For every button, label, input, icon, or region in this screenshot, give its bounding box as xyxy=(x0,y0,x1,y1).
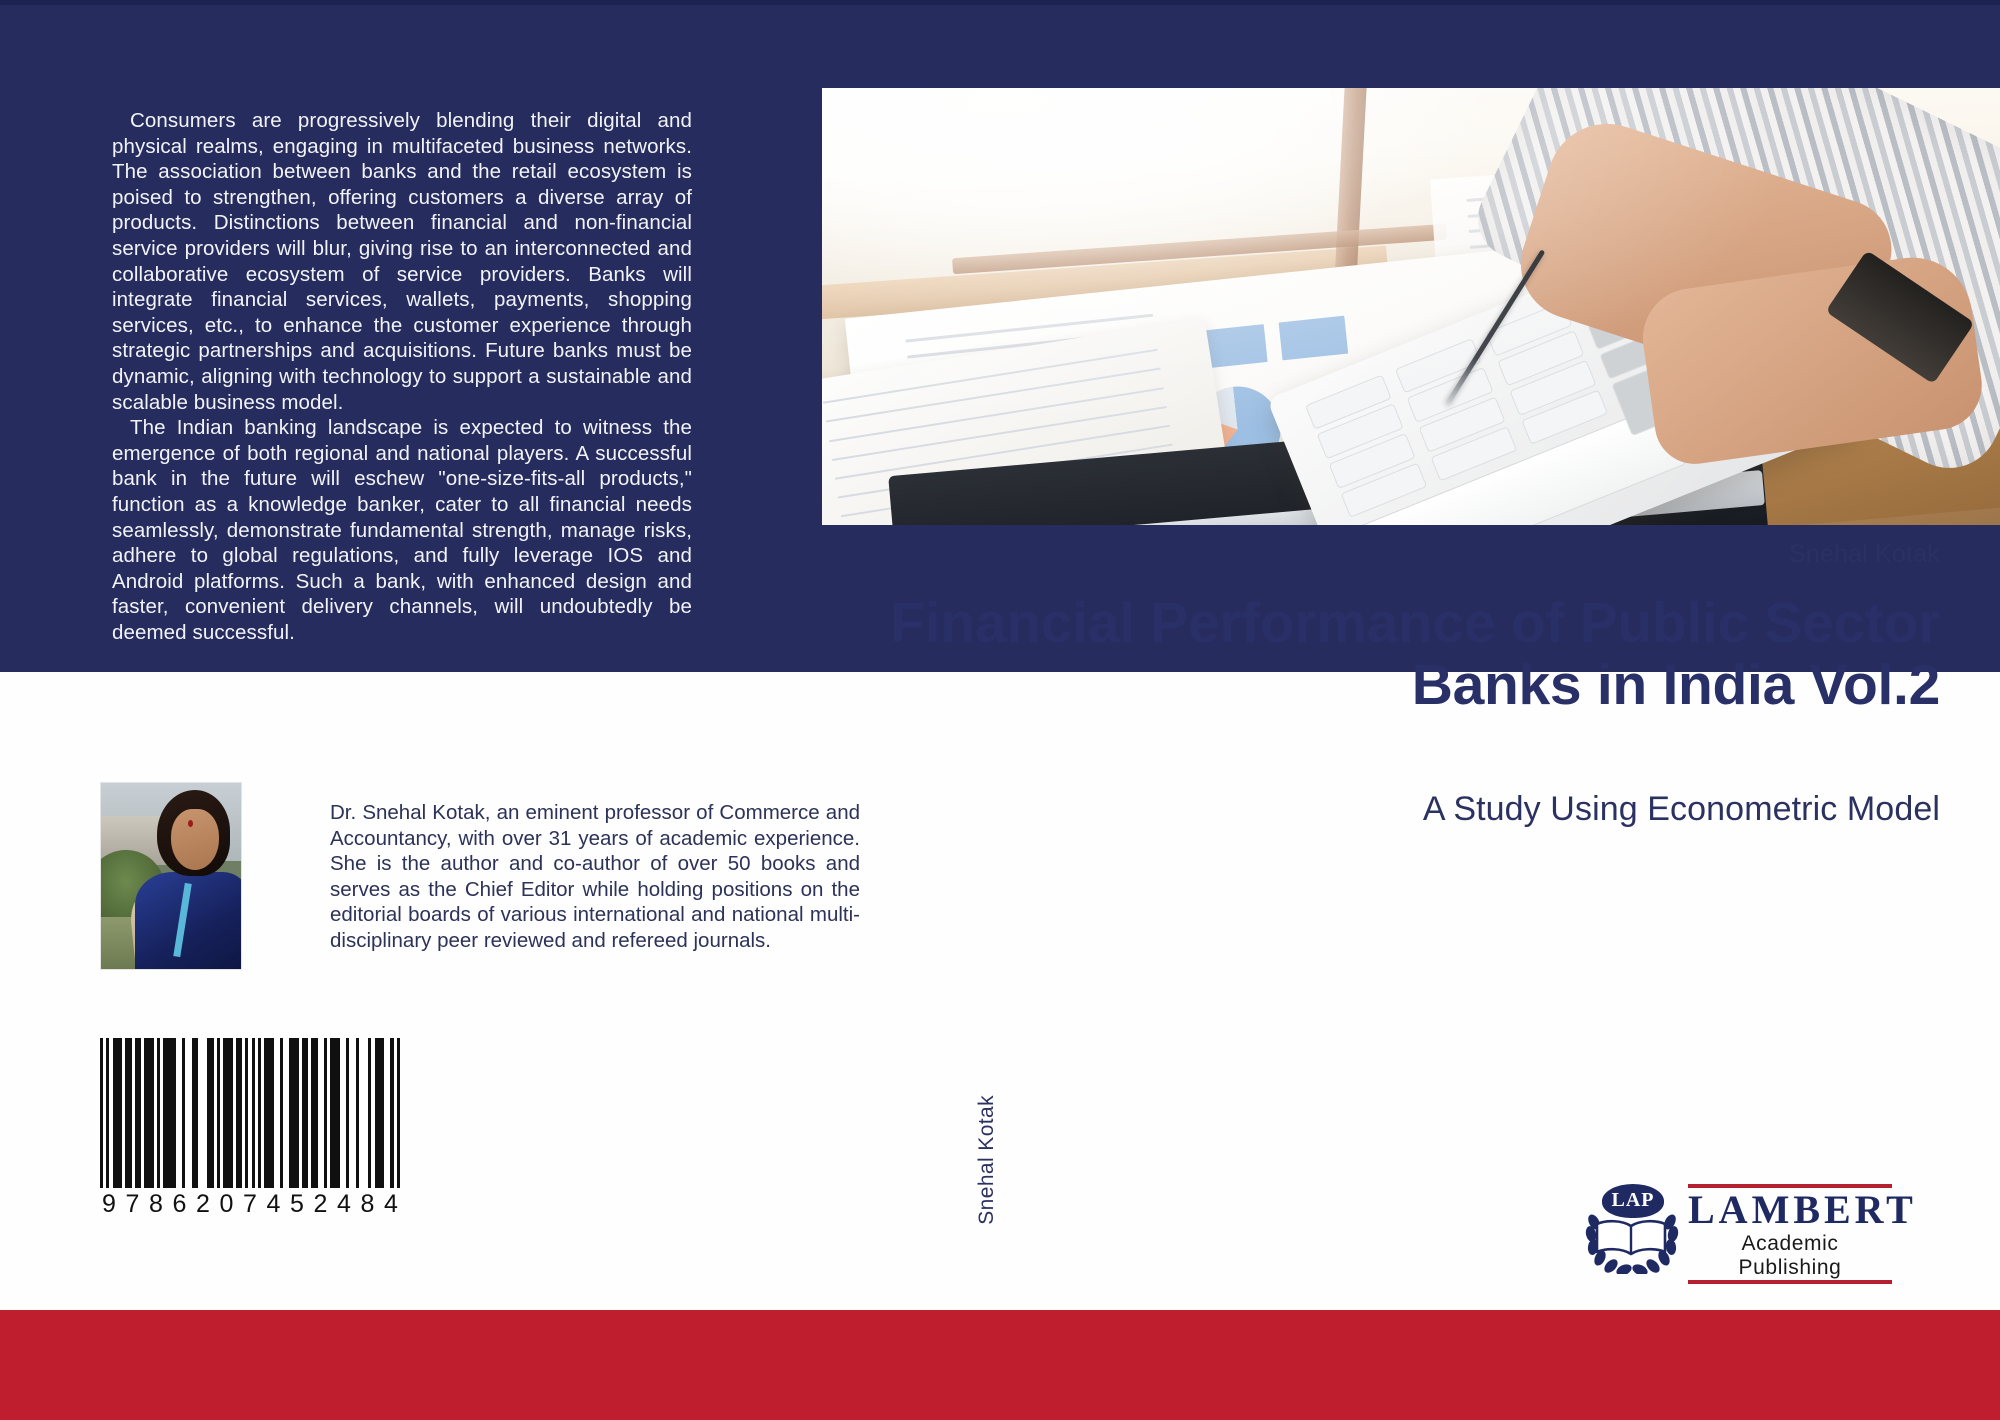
lap-emblem: LAP xyxy=(1580,1184,1680,1280)
lap-badge-label: LAP xyxy=(1602,1184,1664,1218)
publisher-tagline: Academic Publishing xyxy=(1688,1232,1892,1280)
open-book-icon xyxy=(1594,1218,1668,1258)
blurb-paragraph-2: The Indian banking landscape is expected… xyxy=(112,415,692,645)
front-cover-subtitle: A Study Using Econometric Model xyxy=(940,790,1940,829)
blurb-paragraph-1: Consumers are progressively blending the… xyxy=(112,108,692,415)
front-cover-author: Snehal Kotak xyxy=(1040,540,1940,569)
portrait-bindi xyxy=(188,820,193,827)
publisher-name: LAMBERT xyxy=(1688,1188,1892,1232)
spine-author-text: Snehal Kotak xyxy=(975,1095,999,1225)
book-cover: Consumers are progressively blending the… xyxy=(0,0,2000,1420)
lambert-wordmark: LAMBERT Academic Publishing xyxy=(1688,1184,1892,1280)
barcode-bars xyxy=(100,1038,400,1188)
author-portrait-photo xyxy=(100,782,242,970)
page-title: Financial Performance of Public Sector B… xyxy=(820,592,1940,716)
back-cover-blurb: Consumers are progressively blending the… xyxy=(112,108,692,645)
author-bio-text: Dr. Snehal Kotak, an eminent professor o… xyxy=(330,800,860,953)
barcode-block: 9786207452484 xyxy=(100,1038,400,1219)
portrait-face xyxy=(171,809,219,870)
cover-photo xyxy=(822,88,2000,525)
isbn-digits: 9786207452484 xyxy=(100,1190,400,1219)
logo-rule-bottom xyxy=(1688,1280,1892,1284)
red-footer-bar xyxy=(0,1310,2000,1420)
publisher-logo: LAP LAMBERT Academic Publishing xyxy=(1580,1178,1890,1284)
